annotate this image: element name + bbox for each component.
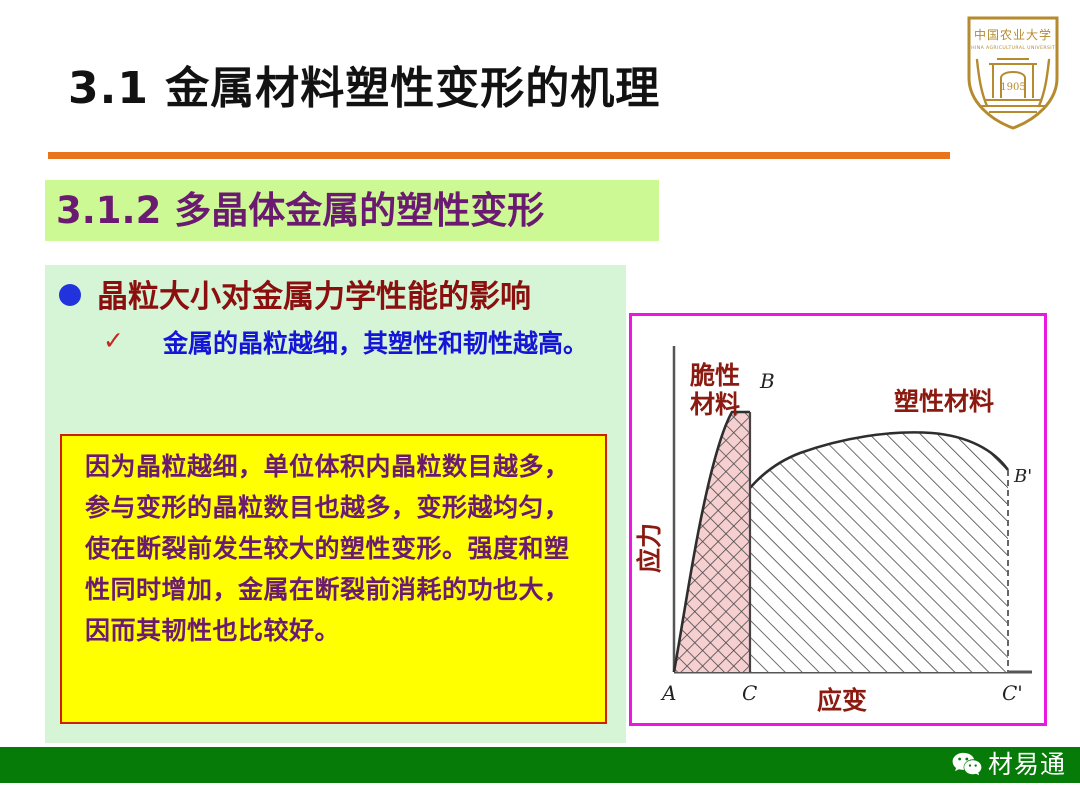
bullet-item-primary: 晶粒大小对金属力学性能的影响 [59,273,619,319]
title-divider [48,152,950,159]
bullet-secondary-label: 金属的晶粒越细，其塑性和韧性越高。 [163,324,615,363]
slide-root: 中国农业大学 CHINA AGRICULTURAL UNIVERSITY 190… [0,0,1080,786]
check-icon: ✓ [103,329,125,353]
footer-brand: 材易通 [952,748,1066,782]
footer-brand-name: 材易通 [988,750,1066,780]
brittle-label-line1: 脆性 [689,361,740,390]
brittle-label-line2: 材料 [690,390,740,419]
brittle-region [670,396,760,681]
point-b-label: B [759,369,775,393]
point-cprime-label: C' [1002,681,1023,705]
note-box: 因为晶粒越细，单位体积内晶粒数目越多，参与变形的晶粒数目也越多，变形越均匀，使在… [60,434,607,724]
x-axis-label: 应变 [817,686,867,715]
logo-cn-name: 中国农业大学 [974,27,1052,42]
content-panel: 晶粒大小对金属力学性能的影响 ✓ 金属的晶粒越细，其塑性和韧性越高。 因为晶粒越… [45,265,626,743]
section-header-band: 3.1.2 多晶体金属的塑性变形 [45,180,659,241]
point-a-label: A [660,681,676,705]
point-c-label: C [742,681,757,705]
point-bprime-label: B' [1013,466,1032,487]
china-agricultural-university-logo-icon: 中国农业大学 CHINA AGRICULTURAL UNIVERSITY 190… [963,12,1063,132]
section-header-text: 3.1.2 多晶体金属的塑性变形 [56,183,544,239]
wechat-icon [952,751,982,779]
stress-strain-chart: 脆性 材料 塑性材料 B B' A C C' 应变 应力 [629,313,1047,726]
bullet-dot-icon [59,284,81,306]
footer-bar: 材易通 [0,747,1080,783]
y-axis-label: 应力 [635,523,664,573]
logo-year: 1905 [1000,82,1025,93]
note-box-text: 因为晶粒越细，单位体积内晶粒数目越多，参与变形的晶粒数目也越多，变形越均匀，使在… [85,446,585,651]
bullet-primary-label: 晶粒大小对金属力学性能的影响 [97,271,531,316]
chart-svg: 脆性 材料 塑性材料 B B' A C C' 应变 应力 [632,316,1044,723]
logo-en-name: CHINA AGRICULTURAL UNIVERSITY [968,45,1059,51]
ductile-label: 塑性材料 [894,387,994,416]
page-title: 3.1 金属材料塑性变形的机理 [68,52,660,116]
